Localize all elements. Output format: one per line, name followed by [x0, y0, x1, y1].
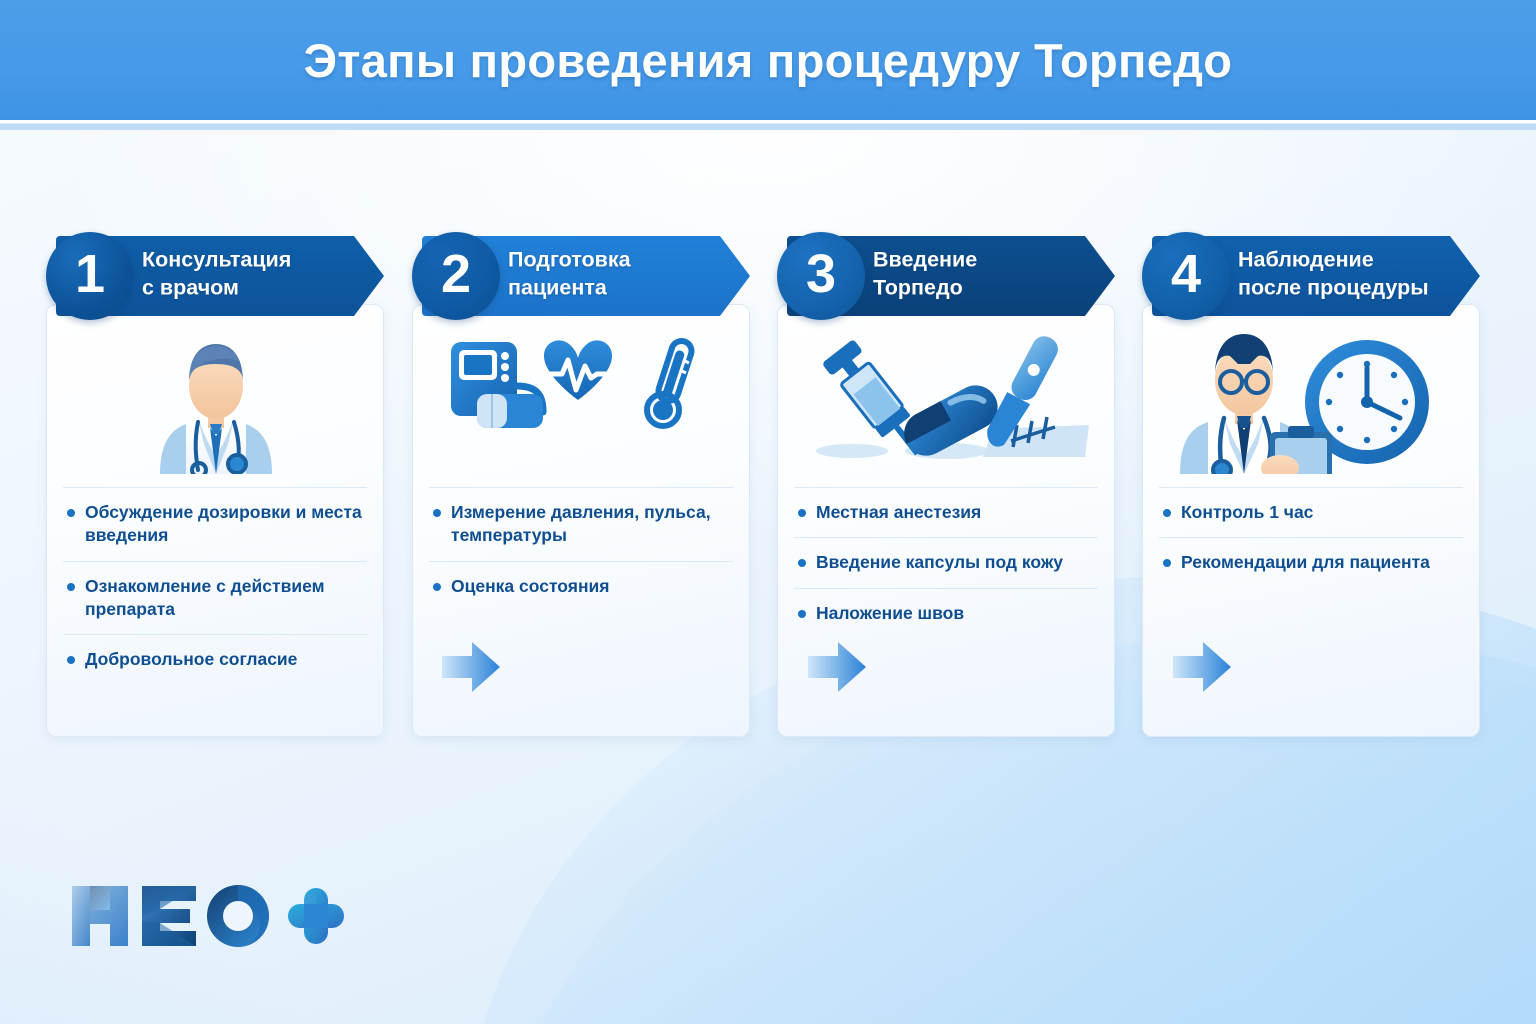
list-item: Контроль 1 час: [1159, 488, 1463, 538]
step-number-badge: 3: [777, 232, 865, 320]
step-title: Подготовка пациента: [508, 246, 631, 301]
list-item: Обсуждение дозировки и места введения: [63, 488, 367, 562]
bullet-dot-icon: [798, 559, 806, 567]
list-item: Добровольное согласие: [63, 635, 367, 684]
flow-arrow-1-to-2-icon: [442, 640, 500, 694]
bullet-list-4: Контроль 1 час Рекомендации для пациента: [1159, 487, 1463, 588]
bullet-list-2: Измерение давления, пульса, температуры …: [429, 487, 733, 611]
bullet-dot-icon: [1163, 509, 1171, 517]
bullet-dot-icon: [1163, 559, 1171, 567]
list-item: Введение капсулы под кожу: [794, 538, 1098, 588]
step-title: Наблюдение после процедуры: [1238, 246, 1429, 301]
step-number-badge: 2: [412, 232, 500, 320]
bullet-dot-icon: [798, 610, 806, 618]
bullet-list-1: Обсуждение дозировки и места введения Оз…: [63, 487, 367, 684]
step-title: Введение Торпедо: [873, 246, 977, 301]
bullet-dot-icon: [67, 656, 75, 664]
step-ribbon-2: 2 Подготовка пациента: [412, 232, 750, 316]
page-title: Этапы проведения процедуру Торпедо: [304, 33, 1233, 88]
step-number-badge: 4: [1142, 232, 1230, 320]
infographic-canvas: Этапы проведения процедуру Торпедо: [0, 0, 1536, 1024]
bullet-dot-icon: [433, 509, 441, 517]
syringe-capsule-scalpel-icon: [778, 319, 1116, 479]
step-ribbon-1: 1 Консультация с врачом: [46, 232, 384, 316]
list-item: Измерение давления, пульса, температуры: [429, 488, 733, 562]
flow-arrow-2-to-3-icon: [808, 640, 866, 694]
list-item: Рекомендации для пациента: [1159, 538, 1463, 587]
bullet-dot-icon: [67, 509, 75, 517]
bullet-list-3: Местная анестезия Введение капсулы под к…: [794, 487, 1098, 638]
step-ribbon-4: 4 Наблюдение после процедуры: [1142, 232, 1480, 316]
list-item: Оценка состояния: [429, 562, 733, 611]
step-ribbon-3: 3 Введение Торпедо: [777, 232, 1115, 316]
steps-row: Обсуждение дозировки и места введения Оз…: [46, 232, 1490, 737]
bullet-dot-icon: [67, 583, 75, 591]
flow-arrow-3-to-4-icon: [1173, 640, 1231, 694]
title-bar-underline: [0, 120, 1536, 130]
doctor-clipboard-clock-icon: [1143, 319, 1481, 479]
list-item: Наложение швов: [794, 589, 1098, 638]
step-title: Консультация с врачом: [142, 246, 291, 301]
doctor-stethoscope-icon: [47, 319, 385, 479]
brand-logo: [66, 876, 346, 956]
list-item: Местная анестезия: [794, 488, 1098, 538]
vitals-monitoring-icon: [413, 319, 751, 479]
bullet-dot-icon: [798, 509, 806, 517]
step-card-1[interactable]: Обсуждение дозировки и места введения Оз…: [46, 232, 384, 737]
list-item: Ознакомление с действием препарата: [63, 562, 367, 636]
step-number-badge: 1: [46, 232, 134, 320]
title-bar: Этапы проведения процедуру Торпедо: [0, 0, 1536, 120]
card-body-1: Обсуждение дозировки и места введения Оз…: [46, 304, 384, 737]
bullet-dot-icon: [433, 583, 441, 591]
